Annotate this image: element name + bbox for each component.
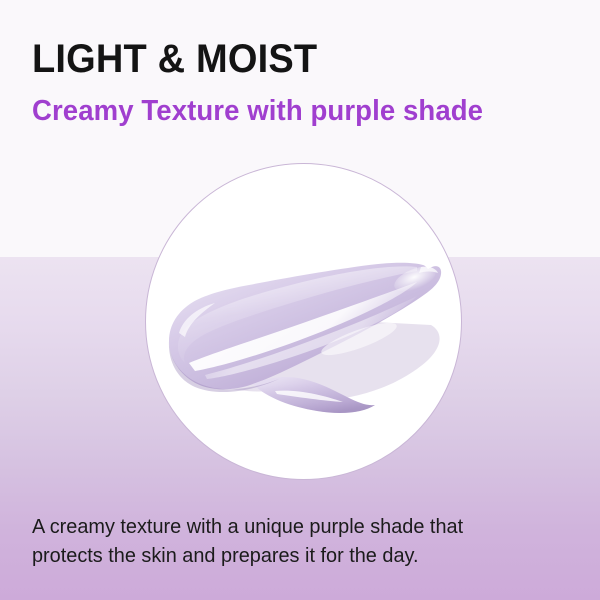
page-subtitle: Creamy Texture with purple shade [32,94,483,128]
cream-swatch-container [145,163,462,480]
cream-swatch-icon [145,163,462,480]
product-description: A creamy texture with a unique purple sh… [32,512,498,570]
product-feature-banner: LIGHT & MOIST Creamy Texture with purple… [0,0,600,600]
page-title: LIGHT & MOIST [32,36,317,82]
